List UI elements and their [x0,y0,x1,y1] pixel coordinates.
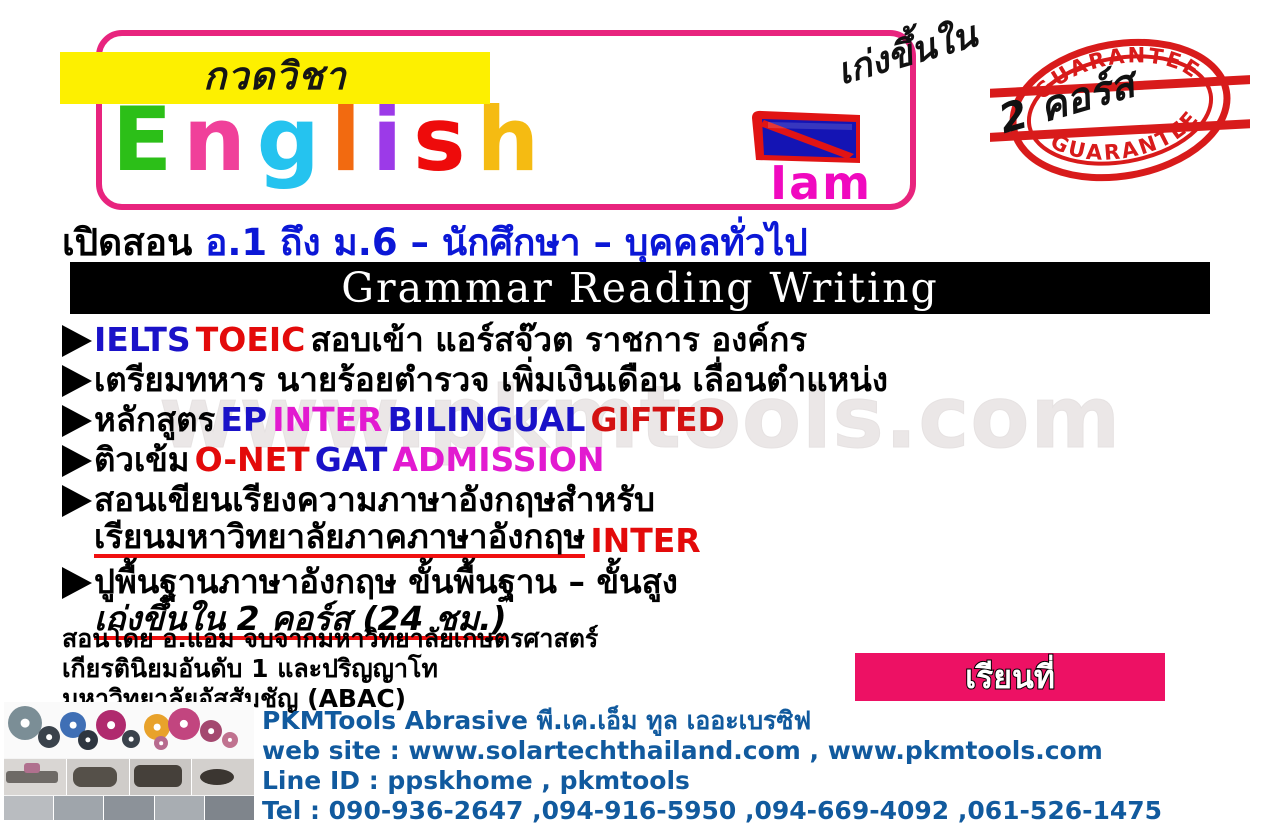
bullet-programs-thai: หลักสูตร [94,400,215,440]
bullet-intensive-gat: GAT [315,440,388,480]
poster-root: www.pkmtools.com กวดวิชา English Iam GUA… [0,0,1280,824]
bullet-military-police: เตรียมทหาร นายร้อยตำรวจ เพิ่มเงินเดือน เ… [94,360,888,400]
bullet-programs-ep: EP [220,400,267,440]
machine-part-icon [134,765,182,787]
tutoring-banner: กวดวิชา [60,52,490,104]
open-enrollment-levels: อ.1 ถึง ม.6 – นักศึกษา – บุคคลทั่วไป [205,221,808,264]
open-enrollment-prefix: เปิดสอน [62,221,192,264]
wheel-icon [154,736,168,750]
contact-line-id[interactable]: Line ID : ppskhome , pkmtools [262,766,1162,796]
bullet-exams-toeic: TOEIC [196,320,306,360]
photo-cell-detail-2 [54,796,103,820]
photo-cell-grinder-3 [130,759,192,795]
wheel-icon [38,726,60,748]
triangle-bullet-icon [62,325,92,357]
open-enrollment-line: เปิดสอน อ.1 ถึง ม.6 – นักศึกษา – บุคคลทั… [62,220,1232,266]
brand-letter-h: h [477,96,551,184]
list-item: ปูพื้นฐานภาษาอังกฤษ ขั้นพื้นฐาน – ขั้นสู… [62,562,1262,602]
machine-part-icon [24,763,40,773]
teacher-credentials: สอนโดย อ.แอม จบจากมหาวิทยาลัยเกษตรศาสตร์… [62,624,598,714]
bullet-exams-ielts: IELTS [94,320,191,360]
wheel-icon [222,732,238,748]
university-program-tag: INTER [590,520,700,562]
photo-row-details [4,796,254,820]
tutoring-banner-label: กวดวิชา [203,57,347,95]
photo-cell-wheels [4,702,254,758]
bullet-programs-bilingual: BILINGUAL [388,400,586,440]
machine-part-icon [200,769,234,785]
machine-part-icon [73,767,117,787]
teacher-line-2: เกียรตินิยมอันดับ 1 และปริญญาโท [62,654,598,684]
brand-letter-n: n [183,96,257,184]
teacher-line-1: สอนโดย อ.แอม จบจากมหาวิทยาลัยเกษตรศาสตร์ [62,624,598,654]
bullet-programs-gifted: GIFTED [591,400,725,440]
bullet-intensive-admission: ADMISSION [392,440,604,480]
triangle-bullet-icon [62,405,92,437]
photo-cell-detail-4 [155,796,204,820]
photo-row-machines [4,759,254,795]
bullet-foundation: ปูพื้นฐานภาษาอังกฤษ ขั้นพื้นฐาน – ขั้นสู… [94,562,678,602]
wheel-icon [78,730,98,750]
photo-cell-detail-3 [104,796,153,820]
wheel-icon [168,708,200,740]
learn-here-badge: เรียนที่ [855,653,1165,701]
brand-letter-g: g [257,96,331,184]
contact-company: PKMTools Abrasive พี.เค.เอ็ม ทูล เออะเบร… [262,706,1162,736]
list-item: สอนเขียนเรียงความภาษาอังกฤษสำหรับ [62,480,1262,520]
list-item: เตรียมทหาร นายร้อยตำรวจ เพิ่มเงินเดือน เ… [62,360,1262,400]
sub-brand-label: Iam [770,160,872,206]
university-program-line: เรียนมหาวิทยาลัยภาคภาษาอังกฤษ [94,520,585,558]
learn-here-label: เรียนที่ [965,661,1055,693]
bullet-exams-thai: สอบเข้า แอร์สจ๊วต ราชการ องค์กร [310,320,807,360]
bullet-intensive-thai: ติวเข้ม [94,440,190,480]
photo-cell-grinder-1 [4,759,66,795]
photo-cell-detail-1 [4,796,53,820]
brand-wordmark: English [112,96,550,184]
contact-telephone[interactable]: Tel : 090-936-2647 ,094-916-5950 ,094-66… [262,796,1162,824]
list-item-subline: เรียนมหาวิทยาลัยภาคภาษาอังกฤษ INTER [62,520,1262,562]
contact-block: PKMTools Abrasive พี.เค.เอ็ม ทูล เออะเบร… [262,706,1162,824]
skills-bar-label: Grammar Reading Writing [341,264,939,312]
wheel-icon [8,706,42,740]
list-item: ติวเข้ม O-NET GAT ADMISSION [62,440,1262,480]
brand-letter-l: l [331,96,372,184]
brand-letter-i: i [372,96,413,184]
triangle-bullet-icon [62,445,92,477]
bullet-essay-writing: สอนเขียนเรียงความภาษาอังกฤษสำหรับ [94,480,655,520]
triangle-bullet-icon [62,567,92,599]
course-list: IELTS TOEIC สอบเข้า แอร์สจ๊วต ราชการ องค… [62,320,1262,644]
product-photo-collage [4,702,254,820]
brand-letter-e: E [112,96,183,184]
photo-row-wheels [4,702,254,758]
photo-cell-grinder-4 [192,759,254,795]
bullet-programs-inter: INTER [272,400,382,440]
wheel-icon [122,730,140,748]
brand-letter-s: s [413,96,476,184]
photo-cell-grinder-2 [67,759,129,795]
triangle-bullet-icon [62,365,92,397]
contact-website[interactable]: web site : www.solartechthailand.com , w… [262,736,1162,766]
skills-bar: Grammar Reading Writing [70,262,1210,314]
wheel-icon [200,720,222,742]
photo-cell-detail-5 [205,796,254,820]
list-item: หลักสูตร EP INTER BILINGUAL GIFTED [62,400,1262,440]
bullet-intensive-onet: O-NET [195,440,310,480]
list-item: IELTS TOEIC สอบเข้า แอร์สจ๊วต ราชการ องค… [62,320,1262,360]
triangle-bullet-icon [62,485,92,517]
